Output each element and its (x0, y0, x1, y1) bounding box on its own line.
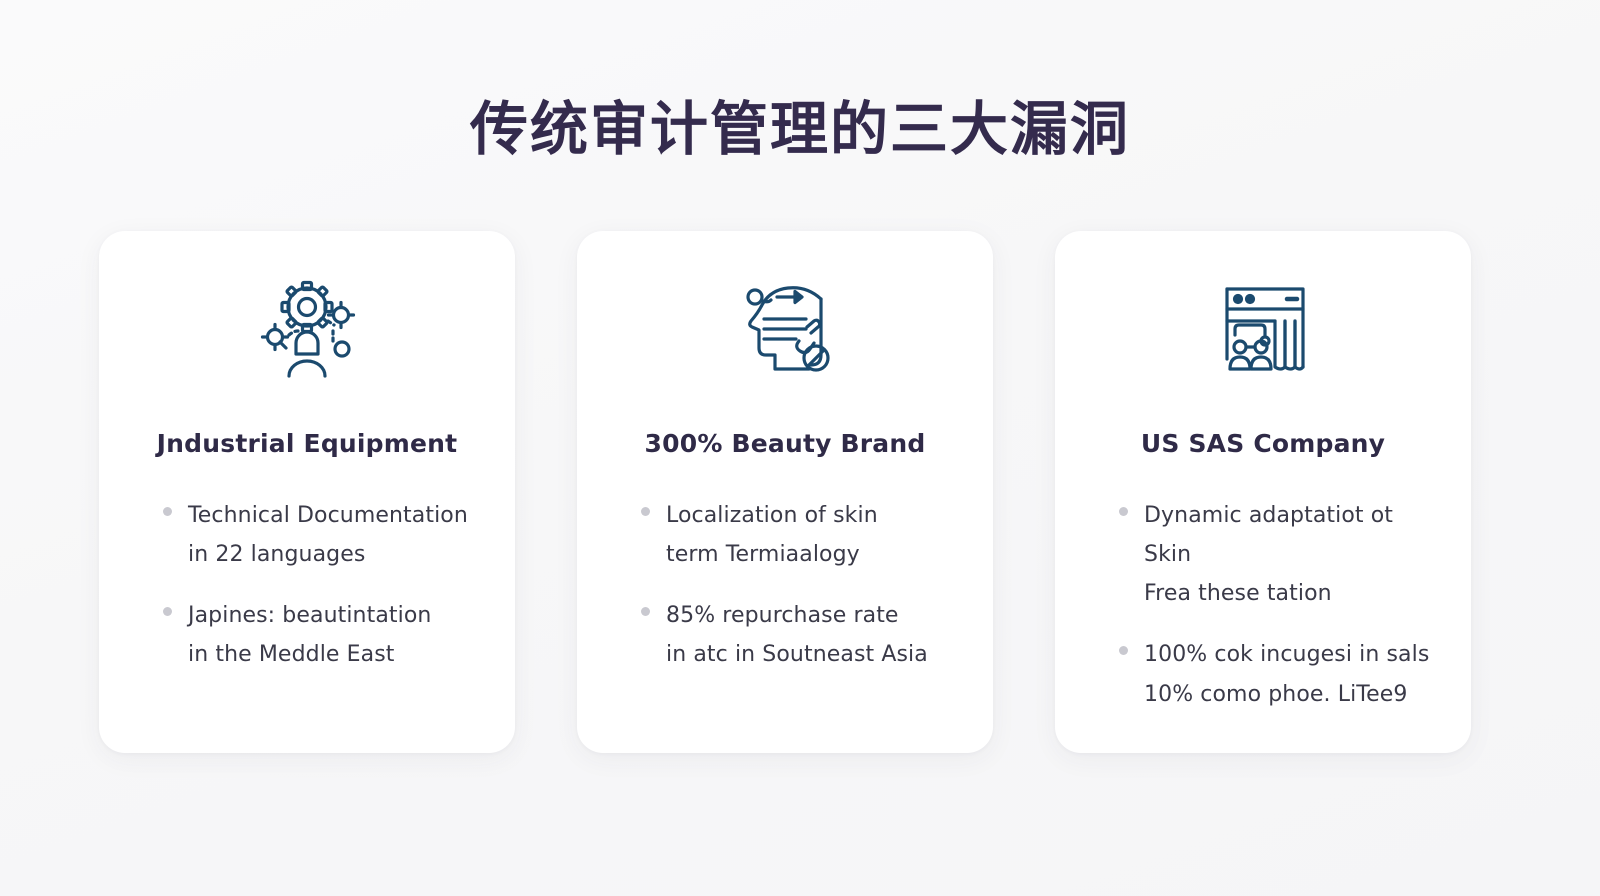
bullet-dot-icon (163, 607, 172, 616)
bullet-line-1: Technical Documentation (188, 503, 468, 528)
bullet-line-2: 10% como phoe. LiTee9 (1144, 675, 1429, 714)
bullet-item: 100% cok incugesi in sals 10% como phoe.… (1119, 635, 1437, 713)
card-title: US SAS Company (1141, 429, 1385, 458)
bullet-text: Technical Documentation in 22 languages (188, 496, 468, 574)
bullet-line-1: 85% repurchase rate (666, 603, 899, 628)
card-title: Jndustrial Equipment (157, 429, 458, 458)
card-bullet-list: Technical Documentation in 22 languages … (133, 496, 481, 675)
bullet-text: 85% repurchase rate in atc in Soutneast … (666, 596, 928, 674)
bullet-line-2: in the Meddle East (188, 635, 431, 674)
bullet-dot-icon (641, 507, 650, 516)
card-bullet-list: Dynamic adaptatiot ot Skin Frea these ta… (1089, 496, 1437, 714)
bullet-line-1: Localization of skin (666, 503, 878, 528)
card-title: 300% Beauty Brand (645, 429, 926, 458)
bullet-line-1: Japines: beautintation (188, 603, 431, 628)
bullet-item: Dynamic adaptatiot ot Skin Frea these ta… (1119, 496, 1437, 613)
bullet-line-2: term Termiaalogy (666, 535, 878, 574)
feature-card-3[interactable]: US SAS Company Dynamic adaptatiot ot Ski… (1055, 231, 1471, 753)
bullet-text: Japines: beautintation in the Meddle Eas… (188, 596, 431, 674)
bullet-item: Localization of skin term Termiaalogy (641, 496, 959, 574)
bullet-item: Technical Documentation in 22 languages (163, 496, 481, 574)
bullet-item: Japines: beautintation in the Meddle Eas… (163, 596, 481, 674)
bullet-line-1: Dynamic adaptatiot ot Skin (1144, 503, 1393, 567)
bullet-dot-icon (1119, 646, 1128, 655)
card-grid: Jndustrial Equipment Technical Documenta… (99, 231, 1471, 753)
feature-card-2[interactable]: 300% Beauty Brand Localization of skin t… (577, 231, 993, 753)
slide-background: 传统审计管理的三大漏洞 (0, 0, 1600, 896)
bullet-line-2: Frea these tation (1144, 574, 1437, 613)
bullet-dot-icon (1119, 507, 1128, 516)
bullet-text: 100% cok incugesi in sals 10% como phoe.… (1144, 635, 1429, 713)
gear-person-icon (255, 277, 359, 381)
bullet-line-2: in 22 languages (188, 535, 468, 574)
bullet-line-2: in atc in Soutneast Asia (666, 635, 928, 674)
feature-card-1[interactable]: Jndustrial Equipment Technical Documenta… (99, 231, 515, 753)
bullet-text: Localization of skin term Termiaalogy (666, 496, 878, 574)
bullet-text: Dynamic adaptatiot ot Skin Frea these ta… (1144, 496, 1437, 613)
page-title: 传统审计管理的三大漏洞 (0, 96, 1600, 163)
browser-window-people-icon (1213, 277, 1313, 381)
bullet-line-1: 100% cok incugesi in sals (1144, 642, 1429, 667)
head-document-blocked-icon (733, 277, 837, 381)
card-bullet-list: Localization of skin term Termiaalogy 85… (611, 496, 959, 675)
bullet-dot-icon (641, 607, 650, 616)
bullet-dot-icon (163, 507, 172, 516)
bullet-item: 85% repurchase rate in atc in Soutneast … (641, 596, 959, 674)
